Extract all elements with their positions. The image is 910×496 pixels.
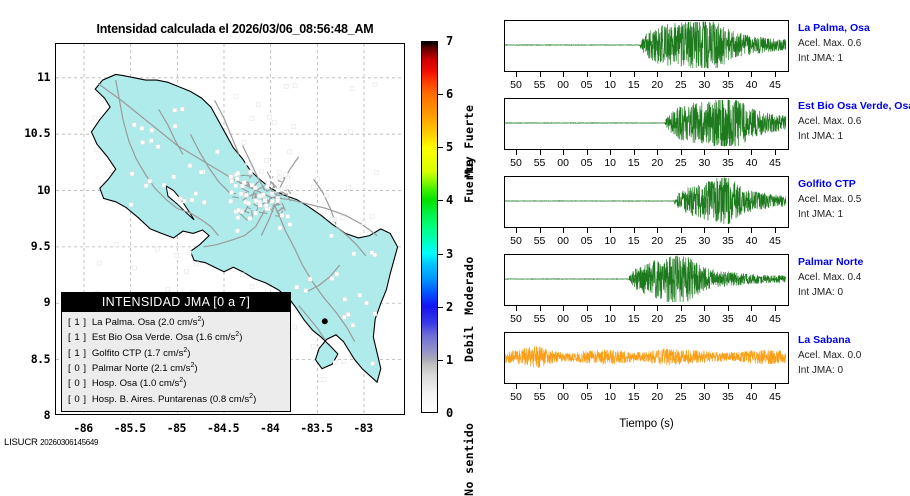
time-tick	[657, 150, 658, 155]
station-max-acceleration: Acel. Max. 0.6	[798, 38, 870, 49]
time-tick	[704, 384, 705, 389]
time-tick	[775, 228, 776, 233]
time-tick	[540, 384, 541, 389]
time-tick	[540, 228, 541, 233]
time-tick-label: 05	[581, 79, 593, 91]
time-tick-label: 30	[699, 157, 711, 169]
station-name[interactable]: Golfito CTP	[798, 178, 861, 190]
time-tick-label: 25	[675, 157, 687, 169]
time-label-row: 505500051015202530354045	[504, 79, 789, 93]
time-tick-label: 00	[557, 79, 569, 91]
time-tick	[634, 228, 635, 233]
time-tick	[704, 150, 705, 155]
time-tick-label: 05	[581, 313, 593, 325]
time-label-row: 505500051015202530354045	[504, 235, 789, 249]
time-tick-label: 15	[628, 235, 640, 247]
waveform	[505, 333, 786, 381]
seismogram-station-info: La SabanaAcel. Max. 0.0Int JMA: 0	[798, 334, 861, 376]
colorbar-tick-label: 3	[446, 247, 453, 261]
seismogram-station-info: Golfito CTPAcel. Max. 0.5Int JMA: 1	[798, 178, 861, 220]
map-y-tick: 9.5	[8, 239, 50, 253]
time-tick-label: 40	[746, 391, 758, 403]
time-tick	[775, 72, 776, 77]
colorbar-tick	[438, 147, 443, 148]
time-tick	[775, 384, 776, 389]
time-tick	[634, 306, 635, 311]
legend-item-accel: (1.7 cm/s2)	[144, 348, 191, 359]
station-jma-intensity: Int JMA: 1	[798, 131, 910, 142]
colorbar-tick-label: 0	[446, 406, 453, 420]
time-axis-title: Tiempo (s)	[504, 418, 789, 430]
time-tick	[704, 306, 705, 311]
time-tick	[751, 150, 752, 155]
time-tick-label: 50	[510, 391, 522, 403]
time-tick	[751, 228, 752, 233]
time-tick-label: 45	[769, 313, 781, 325]
time-tick	[610, 72, 611, 77]
station-jma-intensity: Int JMA: 0	[798, 365, 861, 376]
time-tick-label: 35	[722, 391, 734, 403]
footer-label: LISUCR	[4, 437, 38, 448]
time-tick-label: 10	[604, 235, 616, 247]
time-tick-label: 35	[722, 79, 734, 91]
time-tick-label: 05	[581, 391, 593, 403]
legend-item-station: Palmar Norte	[92, 363, 149, 374]
colorbar-tick-label: 1	[446, 353, 453, 367]
colorbar-tick-label: 4	[446, 193, 453, 207]
time-tick-label: 10	[604, 79, 616, 91]
waveform	[505, 255, 786, 303]
time-tick	[681, 228, 682, 233]
time-label-row: 505500051015202530354045	[504, 313, 789, 327]
time-tick-label: 25	[675, 391, 687, 403]
legend-item-station: Est Bio Osa Verde. Osa	[92, 332, 193, 343]
time-tick	[540, 150, 541, 155]
legend-item-accel: (1.0 cm/s2)	[140, 378, 187, 389]
legend-item-accel: (0.8 cm/s2)	[210, 394, 257, 405]
legend-item: [ 1 ] Golfito CTP (1.7 cm/s2)	[68, 346, 286, 361]
time-tick-label: 55	[534, 157, 546, 169]
time-tick-label: 50	[510, 79, 522, 91]
legend-item-station: La Palma. Osa	[92, 317, 155, 328]
waveform	[505, 21, 786, 69]
seismogram-trace-box[interactable]	[504, 20, 789, 72]
time-tick-label: 35	[722, 235, 734, 247]
time-tick	[610, 306, 611, 311]
time-tick	[610, 228, 611, 233]
time-tick	[728, 306, 729, 311]
colorbar-tick-label: 6	[446, 87, 453, 101]
time-tick	[587, 384, 588, 389]
map-x-tick: -83.5	[300, 421, 332, 435]
time-tick-label: 25	[675, 313, 687, 325]
legend-item-station: Golfito CTP	[92, 348, 141, 359]
time-tick-label: 20	[651, 157, 663, 169]
footer: LISUCR 20260306145649	[4, 437, 98, 448]
time-tick-label: 55	[534, 79, 546, 91]
time-tick	[587, 72, 588, 77]
time-tick	[563, 384, 564, 389]
map-title: Intensidad calculada el 2026/03/06_08:56…	[70, 22, 400, 36]
time-tick-label: 40	[746, 313, 758, 325]
time-tick	[775, 150, 776, 155]
time-tick-label: 30	[699, 79, 711, 91]
time-tick	[751, 306, 752, 311]
seismogram-panel[interactable]: 505500051015202530354045	[504, 332, 789, 405]
time-tick-label: 00	[557, 157, 569, 169]
time-tick	[516, 384, 517, 389]
time-tick-label: 40	[746, 79, 758, 91]
seismogram-panel[interactable]: 505500051015202530354045	[504, 20, 789, 93]
legend-item-jma: [ 1 ]	[68, 317, 87, 328]
time-label-row: 505500051015202530354045	[504, 391, 789, 405]
legend-item-jma: [ 0 ]	[68, 363, 87, 374]
time-tick	[657, 384, 658, 389]
station-jma-intensity: Int JMA: 0	[798, 287, 863, 298]
station-name[interactable]: La Sabana	[798, 334, 861, 346]
seismogram-station-info: La Palma, OsaAcel. Max. 0.6Int JMA: 1	[798, 22, 870, 64]
station-max-acceleration: Acel. Max. 0.0	[798, 350, 861, 361]
time-tick	[587, 150, 588, 155]
time-tick-label: 10	[604, 157, 616, 169]
legend-item-station: Hosp. Osa	[92, 378, 137, 389]
time-tick	[681, 384, 682, 389]
intensity-legend: INTENSIDAD JMA [0 a 7] [ 1 ] La Palma. O…	[61, 292, 291, 412]
time-tick	[516, 306, 517, 311]
time-tick	[681, 150, 682, 155]
time-tick-label: 45	[769, 391, 781, 403]
time-tick	[657, 72, 658, 77]
seismogram-trace-box[interactable]	[504, 176, 789, 228]
time-tick	[728, 228, 729, 233]
time-tick	[610, 150, 611, 155]
time-tick-label: 55	[534, 313, 546, 325]
map-y-tick: 9	[8, 295, 50, 309]
time-tick-label: 50	[510, 235, 522, 247]
time-tick-label: 50	[510, 157, 522, 169]
time-tick-label: 20	[651, 313, 663, 325]
time-tick	[634, 384, 635, 389]
legend-title: INTENSIDAD JMA [0 a 7]	[62, 293, 290, 312]
time-tick-label: 20	[651, 235, 663, 247]
time-tick-label: 25	[675, 79, 687, 91]
time-tick-label: 05	[581, 235, 593, 247]
time-tick-label: 50	[510, 313, 522, 325]
legend-item-jma: [ 0 ]	[68, 394, 87, 405]
time-tick	[634, 72, 635, 77]
time-tick	[728, 72, 729, 77]
map-y-tick: 10	[8, 183, 50, 197]
colorbar-category-label: Moderado	[462, 256, 476, 315]
time-tick	[540, 306, 541, 311]
time-tick	[563, 228, 564, 233]
seismogram-station-info: Palmar NorteAcel. Max. 0.4Int JMA: 0	[798, 256, 863, 298]
time-tick-label: 40	[746, 235, 758, 247]
time-tick	[657, 306, 658, 311]
map-y-tick: 11	[8, 70, 50, 84]
footer-timestamp: 20260306145649	[40, 438, 98, 447]
colorbar-tick	[438, 94, 443, 95]
time-tick-label: 20	[651, 391, 663, 403]
time-tick-label: 15	[628, 313, 640, 325]
seismogram-trace-box[interactable]	[504, 98, 789, 150]
time-tick	[775, 306, 776, 311]
time-label-row: 505500051015202530354045	[504, 157, 789, 171]
legend-item: [ 1 ] La Palma. Osa (2.0 cm/s2)	[68, 315, 286, 330]
time-tick	[540, 72, 541, 77]
time-tick	[587, 306, 588, 311]
time-tick	[681, 72, 682, 77]
legend-item-accel: (2.1 cm/s2)	[151, 363, 198, 374]
time-tick-label: 30	[699, 235, 711, 247]
colorbar-tick-label: 2	[446, 300, 453, 314]
legend-item-accel: (1.6 cm/s2)	[196, 332, 243, 343]
time-tick	[563, 72, 564, 77]
seismogram-trace-box[interactable]	[504, 332, 789, 384]
time-tick-row	[504, 306, 789, 313]
colorbar-category-label: Muy Fuerte	[462, 104, 476, 177]
time-tick-label: 55	[534, 235, 546, 247]
time-tick-row	[504, 72, 789, 79]
legend-item: [ 0 ] Palmar Norte (2.1 cm/s2)	[68, 361, 286, 376]
seismogram-station-info: Est Bio Osa Verde, OsaAcel. Max. 0.6Int …	[798, 100, 910, 142]
seismogram-panel[interactable]: 505500051015202530354045	[504, 176, 789, 249]
legend-item: [ 0 ] Hosp. B. Aires. Puntarenas (0.8 cm…	[68, 392, 286, 407]
colorbar-tick-label: 7	[446, 34, 453, 48]
time-tick	[704, 72, 705, 77]
time-tick	[610, 384, 611, 389]
time-tick-label: 35	[722, 313, 734, 325]
legend-item-accel: (2.0 cm/s2)	[158, 317, 205, 328]
colorbar-tick	[438, 254, 443, 255]
time-tick	[563, 306, 564, 311]
map-x-tick: -84	[260, 421, 279, 435]
station-name[interactable]: Palmar Norte	[798, 256, 863, 268]
station-name[interactable]: La Palma, Osa	[798, 22, 870, 34]
time-tick	[516, 228, 517, 233]
time-tick-row	[504, 228, 789, 235]
time-tick-label: 45	[769, 235, 781, 247]
time-tick	[657, 228, 658, 233]
time-tick-label: 10	[604, 313, 616, 325]
colorbar-tick	[438, 200, 443, 201]
station-max-acceleration: Acel. Max. 0.5	[798, 194, 861, 205]
station-jma-intensity: Int JMA: 1	[798, 209, 861, 220]
time-tick-label: 00	[557, 391, 569, 403]
waveform	[505, 99, 786, 147]
map-x-tick: -85	[167, 421, 186, 435]
legend-item: [ 0 ] Hosp. Osa (1.0 cm/s2)	[68, 376, 286, 391]
time-tick-label: 45	[769, 157, 781, 169]
time-tick-label: 15	[628, 79, 640, 91]
time-tick	[728, 150, 729, 155]
map-y-tick: 8.5	[8, 352, 50, 366]
seismogram-trace-box[interactable]	[504, 254, 789, 306]
time-tick-label: 15	[628, 157, 640, 169]
time-tick-label: 00	[557, 313, 569, 325]
time-tick-label: 10	[604, 391, 616, 403]
time-tick-label: 40	[746, 157, 758, 169]
legend-item-station: Hosp. B. Aires. Puntarenas	[92, 394, 207, 405]
time-tick-label: 15	[628, 391, 640, 403]
map-x-tick: -84.5	[207, 421, 239, 435]
seismogram-panel[interactable]: 505500051015202530354045	[504, 254, 789, 327]
map-y-tick: 10.5	[8, 126, 50, 140]
intensity-map[interactable]: INTENSIDAD JMA [0 a 7] [ 1 ] La Palma. O…	[55, 43, 405, 415]
map-x-tick: -83	[353, 421, 372, 435]
time-tick-label: 45	[769, 79, 781, 91]
time-tick-label: 55	[534, 391, 546, 403]
legend-item: [ 1 ] Est Bio Osa Verde. Osa (1.6 cm/s2)	[68, 330, 286, 345]
legend-item-jma: [ 1 ]	[68, 332, 87, 343]
map-x-tick: -85.5	[114, 421, 146, 435]
map-x-tick: -86	[73, 421, 92, 435]
time-tick-label: 25	[675, 235, 687, 247]
station-name[interactable]: Est Bio Osa Verde, Osa	[798, 100, 910, 112]
time-tick-row	[504, 150, 789, 157]
station-max-acceleration: Acel. Max. 0.6	[798, 116, 910, 127]
seismogram-panel[interactable]: 505500051015202530354045	[504, 98, 789, 171]
legend-item-jma: [ 0 ]	[68, 378, 87, 389]
time-tick-label: 30	[699, 313, 711, 325]
time-tick-label: 30	[699, 391, 711, 403]
time-tick-row	[504, 384, 789, 391]
legend-items: [ 1 ] La Palma. Osa (2.0 cm/s2)[ 1 ] Est…	[62, 312, 290, 411]
time-tick	[681, 306, 682, 311]
waveform	[505, 177, 786, 225]
time-tick	[587, 228, 588, 233]
time-tick	[704, 228, 705, 233]
time-tick-label: 35	[722, 157, 734, 169]
time-tick	[634, 150, 635, 155]
time-tick-label: 00	[557, 235, 569, 247]
time-tick-label: 20	[651, 79, 663, 91]
time-tick	[516, 150, 517, 155]
colorbar-category-label: Debil	[462, 325, 476, 362]
time-tick-label: 05	[581, 157, 593, 169]
time-tick	[563, 150, 564, 155]
station-jma-intensity: Int JMA: 1	[798, 53, 870, 64]
station-max-acceleration: Acel. Max. 0.4	[798, 272, 863, 283]
time-tick	[751, 72, 752, 77]
colorbar-tick-label: 5	[446, 140, 453, 154]
map-y-tick: 8	[8, 408, 50, 422]
time-tick	[516, 72, 517, 77]
colorbar-tick	[438, 307, 443, 308]
time-tick	[751, 384, 752, 389]
intensity-colorbar	[421, 41, 438, 413]
time-tick	[728, 384, 729, 389]
legend-item-jma: [ 1 ]	[68, 348, 87, 359]
colorbar-tick	[438, 360, 443, 361]
